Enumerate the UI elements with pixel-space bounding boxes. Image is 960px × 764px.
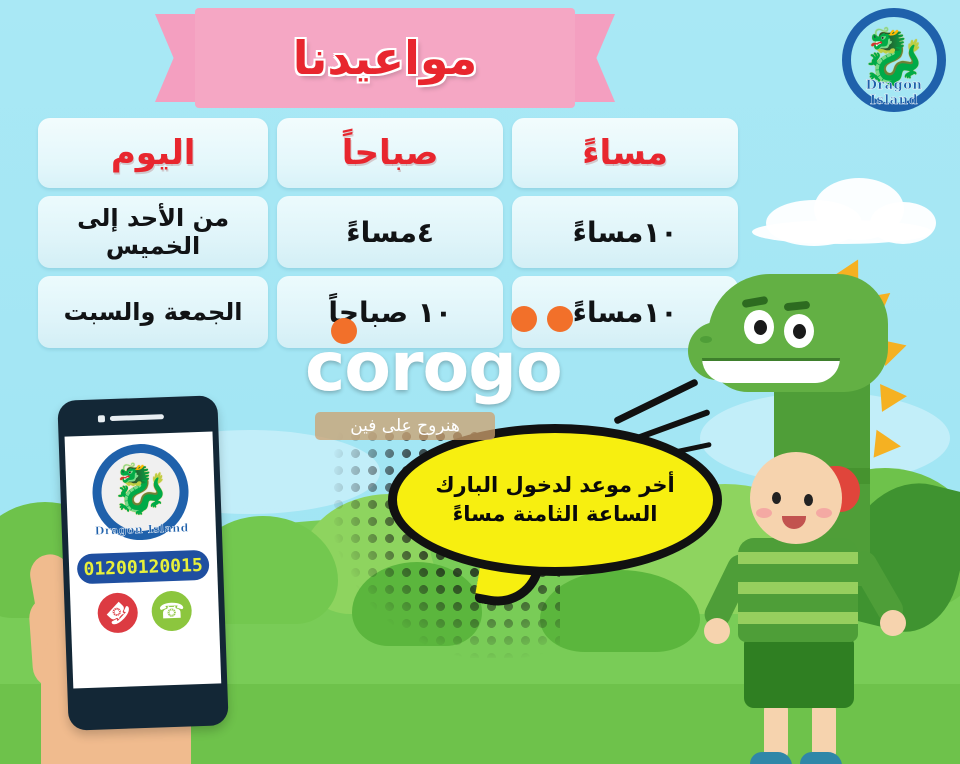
boy-eye-left bbox=[772, 492, 781, 504]
header-cell-evening: مساءً bbox=[512, 118, 738, 188]
schedule-header-row: مساءً صباحاً اليوم bbox=[38, 118, 738, 188]
value-evening-row1: ١٠مساءً bbox=[573, 216, 678, 249]
poster-canvas: مواعيدنا 🐉 Dragon Island مساءً صباحاً ال… bbox=[0, 0, 960, 764]
phone-number-badge[interactable]: 01200120015 bbox=[77, 550, 210, 585]
front-camera-icon bbox=[98, 415, 105, 422]
header-label-evening: مساءً bbox=[582, 133, 668, 173]
brand-name-label: Dragon Island bbox=[842, 78, 946, 108]
notice-line-2: الساعة الثامنة مساءً bbox=[453, 500, 658, 529]
smartphone[interactable]: 🐉 Dragon Island 01200120015 ☎ ☎ bbox=[57, 395, 228, 730]
header-label-morning: صباحاً bbox=[342, 133, 439, 173]
boy-cheek-left bbox=[756, 508, 772, 518]
schedule-table: مساءً صباحاً اليوم ١٠مساءً ٤مساءً من الأ… bbox=[38, 118, 738, 348]
boy-shorts bbox=[744, 638, 854, 708]
boy-cheek-right bbox=[816, 508, 832, 518]
phone-in-hand: 🐉 Dragon Island 01200120015 ☎ ☎ bbox=[45, 398, 295, 764]
header-cell-day: اليوم bbox=[38, 118, 268, 188]
dragon-pupil-left bbox=[754, 320, 767, 335]
boy-hand-right bbox=[880, 610, 906, 636]
dragon-pupil-right bbox=[793, 324, 806, 339]
dragon-icon: 🐉 bbox=[110, 464, 171, 514]
watermark-wordmark: corogo bbox=[305, 336, 645, 401]
shirt-stripe bbox=[738, 582, 858, 594]
dragon-nostril bbox=[700, 336, 712, 343]
call-action-buttons: ☎ ☎ bbox=[90, 590, 199, 636]
dragon-spike bbox=[880, 382, 908, 412]
boy-character bbox=[708, 452, 898, 764]
watermark-dot bbox=[511, 306, 537, 332]
title-ribbon: مواعيدنا bbox=[155, 8, 615, 108]
value-evening-row2: ١٠مساءً bbox=[573, 296, 678, 329]
watermark-dot bbox=[547, 306, 573, 332]
phone-number: 01200120015 bbox=[83, 554, 203, 579]
value-morning-row1: ٤مساءً bbox=[346, 216, 434, 249]
earpiece-speaker bbox=[110, 414, 164, 421]
table-row: ١٠مساءً ٤مساءً من الأحد إلى الخميس bbox=[38, 196, 738, 268]
notice-speech-bubble: أخر موعد لدخول البارك الساعة الثامنة مسا… bbox=[388, 424, 722, 600]
boy-head bbox=[750, 452, 842, 544]
watermark-dot bbox=[331, 318, 357, 344]
value-day-row2: الجمعة والسبت bbox=[64, 298, 243, 326]
caller-logo: 🐉 Dragon Island bbox=[91, 442, 190, 541]
cell-day-row2: الجمعة والسبت bbox=[38, 276, 268, 348]
watermark-tagline: هنروح على فين bbox=[315, 412, 495, 440]
boy-shoe-left bbox=[750, 752, 792, 764]
boy-shoe-right bbox=[800, 752, 842, 764]
watermark: corogo هنروح على فين bbox=[305, 336, 645, 448]
caller-name-label: Dragon Island bbox=[94, 521, 190, 537]
phone-screen[interactable]: 🐉 Dragon Island 01200120015 ☎ ☎ bbox=[65, 431, 222, 688]
boy-eye-right bbox=[804, 494, 813, 506]
boy-shirt bbox=[738, 538, 858, 642]
shirt-stripe bbox=[738, 612, 858, 624]
notice-line-1: أخر موعد لدخول البارك bbox=[435, 471, 674, 500]
boy-hand-left bbox=[704, 618, 730, 644]
dragon-icon: 🐉 bbox=[860, 30, 927, 84]
page-title: مواعيدنا bbox=[155, 8, 615, 108]
dragon-smile bbox=[702, 358, 840, 383]
value-day-row1: من الأحد إلى الخميس bbox=[44, 204, 262, 260]
phone-decline-icon[interactable]: ☎ bbox=[97, 592, 138, 633]
cell-day-row1: من الأحد إلى الخميس bbox=[38, 196, 268, 268]
header-label-day: اليوم bbox=[111, 133, 196, 173]
header-cell-morning: صباحاً bbox=[277, 118, 503, 188]
brand-logo-badge: 🐉 Dragon Island bbox=[842, 8, 946, 112]
cell-morning-row1: ٤مساءً bbox=[277, 196, 503, 268]
shirt-stripe bbox=[738, 552, 858, 564]
phone-accept-icon[interactable]: ☎ bbox=[151, 590, 192, 631]
